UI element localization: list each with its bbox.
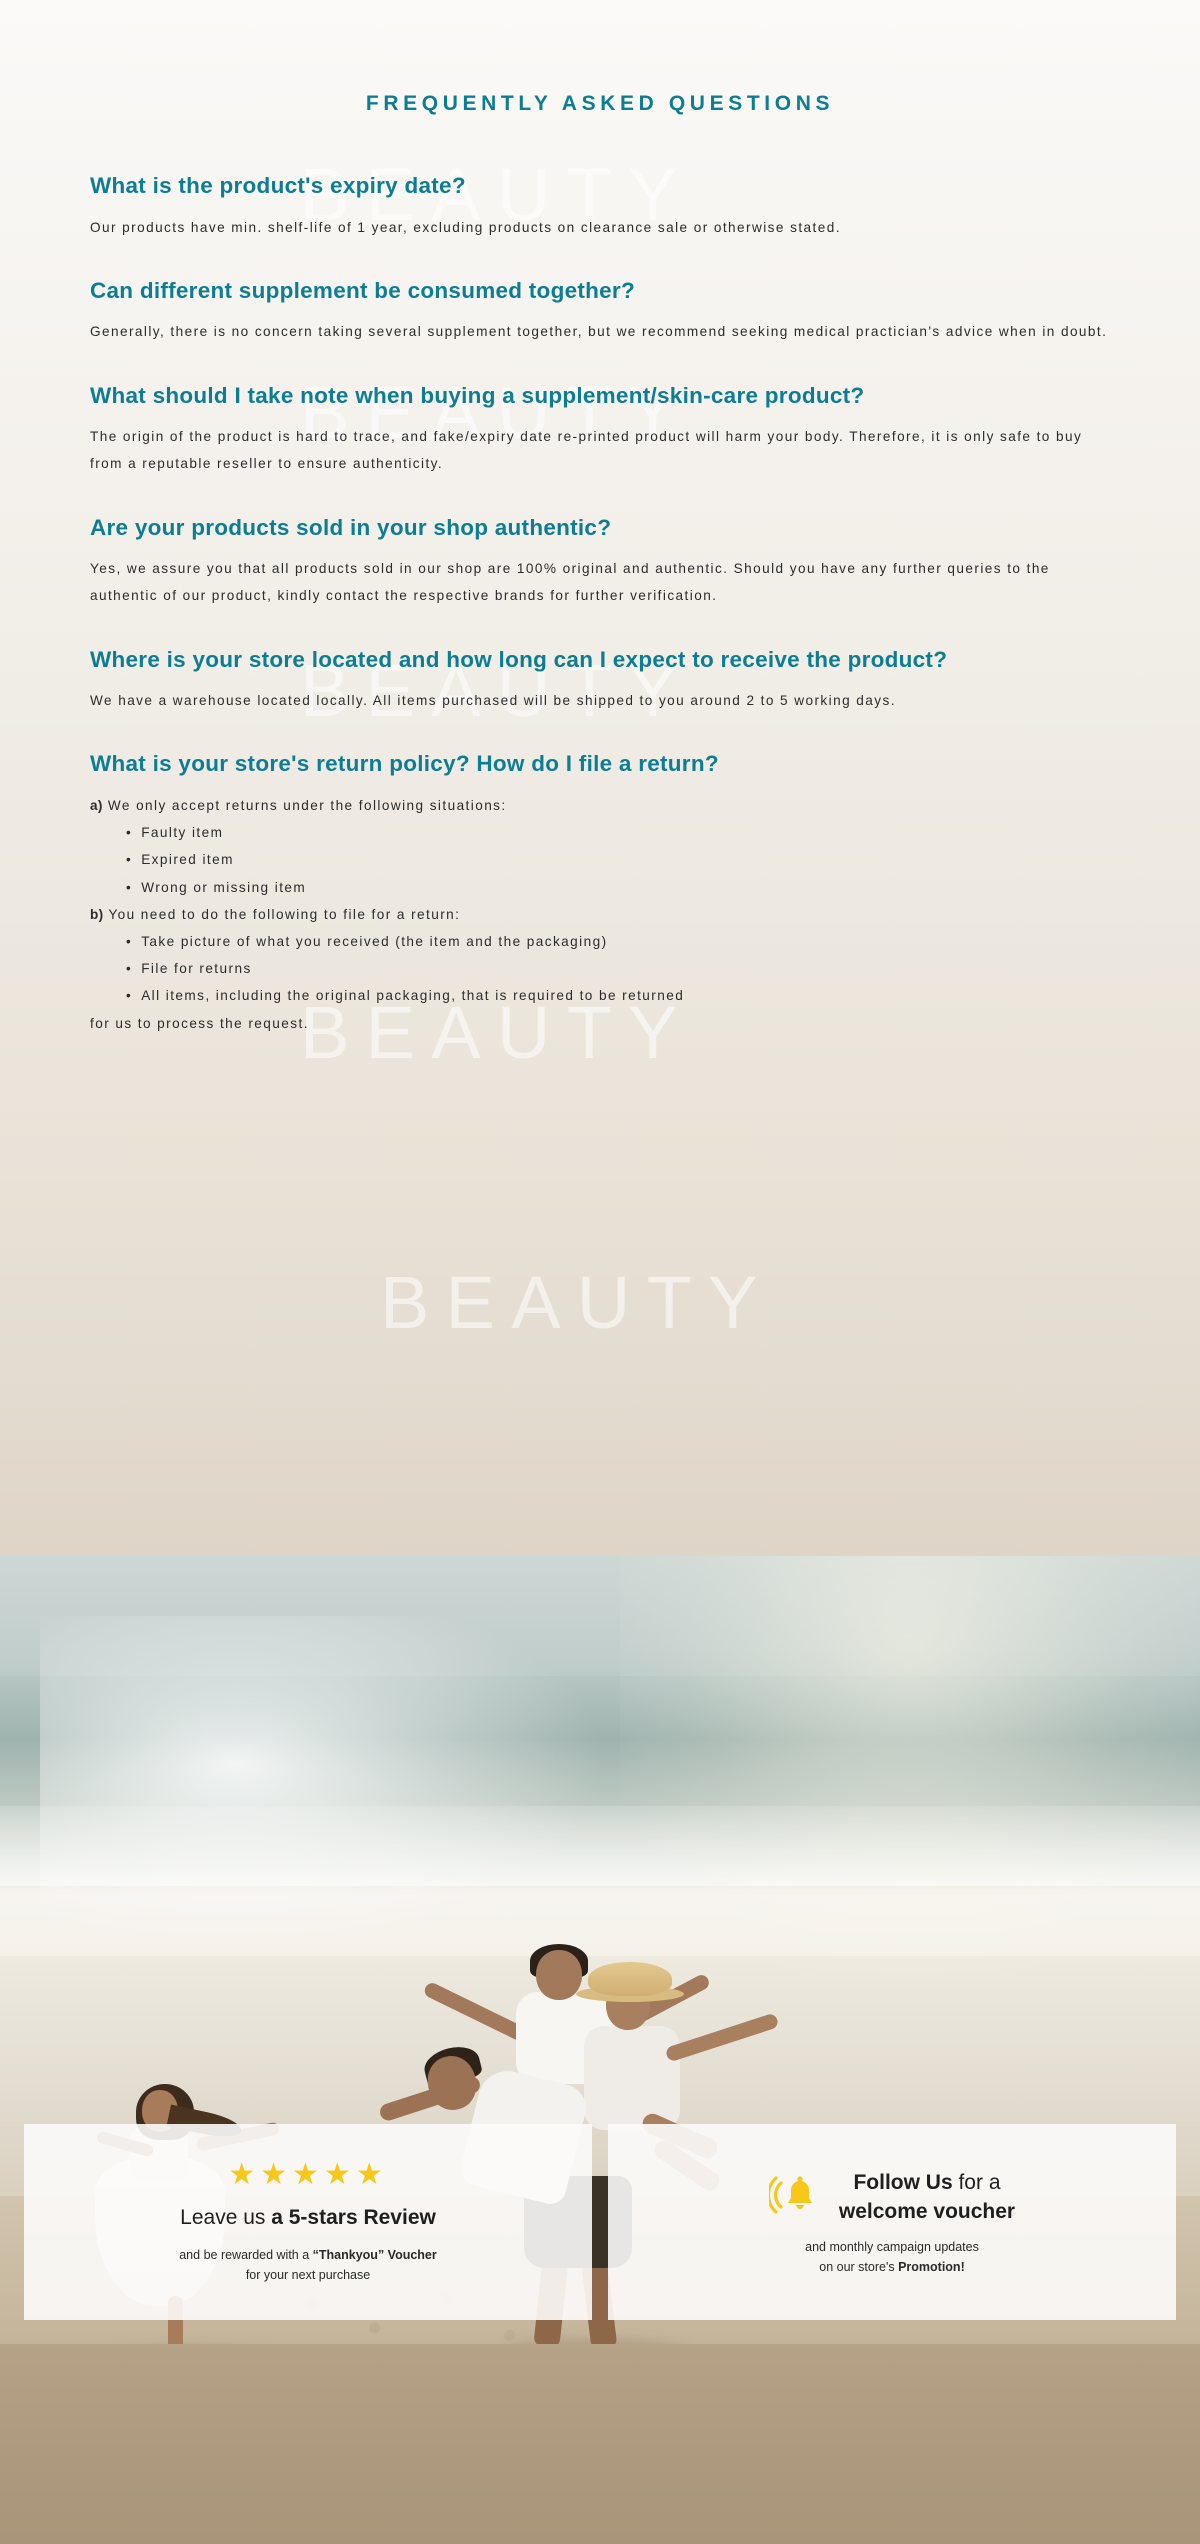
follow-sub-line2-plain: on our store's: [819, 2260, 898, 2274]
policy-closing-text: for us to process the request.: [90, 1010, 1110, 1037]
follow-headline: Follow Us for a welcome voucher: [839, 2168, 1015, 2227]
follow-subtext: and monthly campaign updates on our stor…: [626, 2237, 1158, 2278]
review-promo-card[interactable]: ★★★★★ Leave us a 5-stars Review and be r…: [24, 2124, 592, 2320]
follow-sub-line1: and monthly campaign updates: [805, 2240, 979, 2254]
list-item: Expired item: [126, 846, 1110, 873]
return-policy-list: a) We only accept returns under the foll…: [90, 792, 1110, 1037]
follow-headline-plain: for a: [953, 2171, 1001, 2194]
review-headline-plain: Leave us: [180, 2206, 271, 2229]
woman-sun-hat: [588, 1962, 672, 1996]
follow-headline-bold-2: welcome voucher: [839, 2200, 1015, 2223]
policy-b-bullets: Take picture of what you received (the i…: [126, 928, 1110, 1010]
review-sub-bold: “Thankyou” Voucher: [313, 2248, 437, 2262]
list-item: File for returns: [126, 955, 1110, 982]
follow-headline-bold-1: Follow Us: [853, 2171, 952, 2194]
policy-a-bullets: Faulty item Expired item Wrong or missin…: [126, 819, 1110, 901]
list-item: All items, including the original packag…: [126, 982, 1110, 1009]
bell-icon: [769, 2171, 821, 2224]
woman-torso: [584, 2026, 680, 2130]
review-headline: Leave us a 5-stars Review: [42, 2204, 574, 2232]
policy-marker-b: b): [90, 907, 103, 922]
list-item: Faulty item: [126, 819, 1110, 846]
faq-item-1: What is the product's expiry date? Our p…: [90, 170, 1110, 241]
faq-question: What should I take note when buying a su…: [90, 380, 1110, 413]
faq-question: What is the product's expiry date?: [90, 170, 1110, 203]
review-subtext: and be rewarded with a “Thankyou” Vouche…: [42, 2245, 574, 2286]
faq-question: Can different supplement be consumed tog…: [90, 275, 1110, 308]
bottom-sand-strip: [0, 2344, 1200, 2544]
follow-sub-line2-bold: Promotion!: [898, 2260, 965, 2274]
faq-item-4: Are your products sold in your shop auth…: [90, 512, 1110, 610]
sun-haze: [620, 1556, 1200, 1976]
review-sub-plain: and be rewarded with a: [179, 2248, 312, 2262]
faq-answer: Yes, we assure you that all products sol…: [90, 555, 1110, 609]
policy-text-a: We only accept returns under the followi…: [108, 798, 507, 813]
faq-answer: Our products have min. shelf-life of 1 y…: [90, 214, 1110, 241]
policy-part-b: b) You need to do the following to file …: [90, 901, 1110, 928]
faq-answer: The origin of the product is hard to tra…: [90, 423, 1110, 477]
faq-question: What is your store's return policy? How …: [90, 748, 1110, 781]
faq-answer: We have a warehouse located locally. All…: [90, 687, 1110, 714]
faq-item-3: What should I take note when buying a su…: [90, 380, 1110, 478]
beauty-watermark: BEAUTY: [380, 1260, 774, 1345]
faq-item-5: Where is your store located and how long…: [90, 644, 1110, 715]
policy-text-b: You need to do the following to file for…: [108, 907, 460, 922]
faq-item-return-policy: What is your store's return policy? How …: [90, 748, 1110, 1036]
faq-question: Where is your store located and how long…: [90, 644, 1110, 677]
policy-marker-a: a): [90, 798, 103, 813]
faq-section: BEAUTY BEAUTY BEAUTY BEAUTY BEAUTY FREQU…: [0, 0, 1200, 1556]
boy-head: [536, 1950, 582, 2000]
five-stars-icon: ★★★★★: [42, 2160, 574, 2190]
faq-item-2: Can different supplement be consumed tog…: [90, 275, 1110, 346]
faq-answer: Generally, there is no concern taking se…: [90, 318, 1110, 345]
follow-headline-row: Follow Us for a welcome voucher: [626, 2168, 1158, 2227]
faq-question: Are your products sold in your shop auth…: [90, 512, 1110, 545]
review-headline-bold: a 5-stars Review: [271, 2206, 436, 2229]
policy-part-a: a) We only accept returns under the foll…: [90, 792, 1110, 819]
review-sub-line2: for your next purchase: [246, 2268, 370, 2282]
sun-glare: [40, 1616, 600, 1946]
list-item: Wrong or missing item: [126, 874, 1110, 901]
page-title: FREQUENTLY ASKED QUESTIONS: [90, 0, 1110, 116]
faq-page: BEAUTY BEAUTY BEAUTY BEAUTY BEAUTY FREQU…: [0, 0, 1200, 2544]
follow-promo-card[interactable]: Follow Us for a welcome voucher and mont…: [608, 2124, 1176, 2320]
promo-cards: ★★★★★ Leave us a 5-stars Review and be r…: [0, 2124, 1200, 2320]
list-item: Take picture of what you received (the i…: [126, 928, 1110, 955]
